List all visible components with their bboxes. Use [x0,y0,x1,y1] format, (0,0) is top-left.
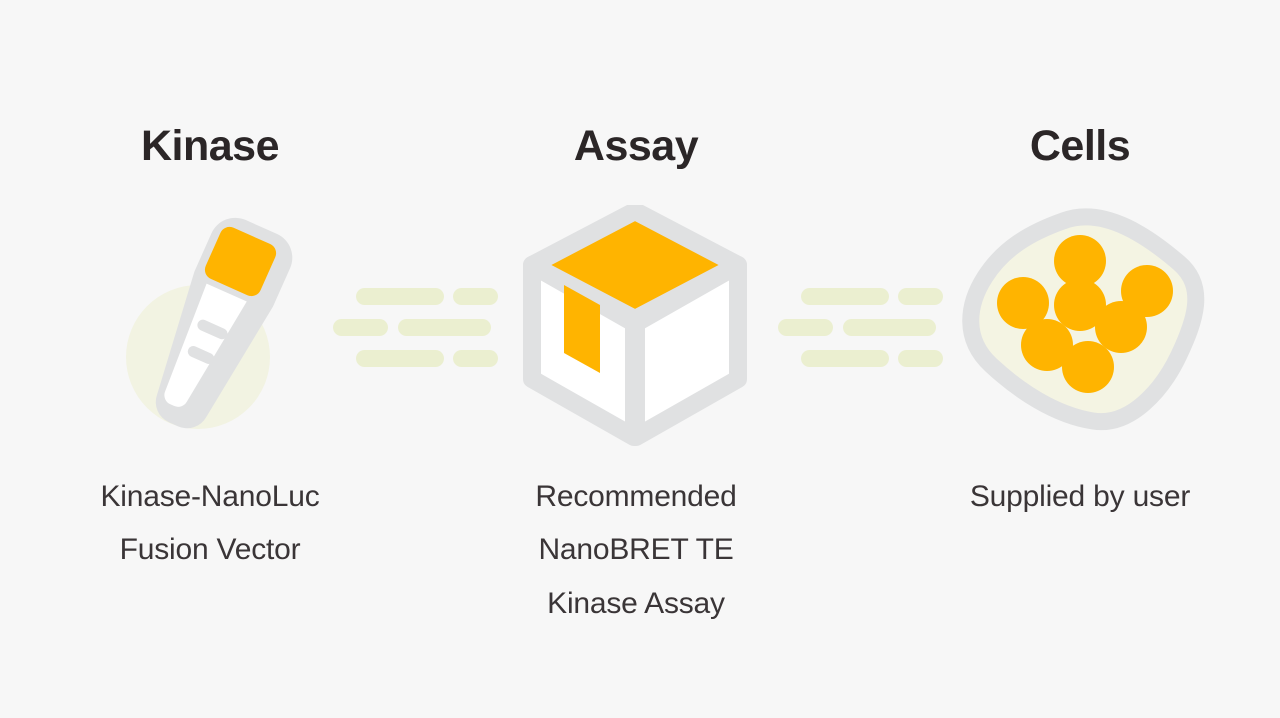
assay-kit-box-icon [466,205,806,455]
page-title-kinase: Kinase [40,124,380,169]
page-title-cells: Cells [910,124,1250,169]
connector-dash [801,288,889,305]
cell-dot [1062,341,1114,393]
workflow-step-assay: Assay Recommended NanoBRET TE Kinase Ass… [466,0,806,718]
connector-dash [778,319,833,336]
connector-dash [356,288,444,305]
connector-dash [801,350,889,367]
cell-dish-glyph [955,205,1205,435]
caption-cells: Supplied by user [910,470,1250,523]
caption-assay: Recommended NanoBRET TE Kinase Assay [466,470,806,630]
workflow-step-kinase: Kinase Kinase-NanoLuc Fusion Vector [40,0,380,718]
workflow-step-cells: Cells Supplied by user [910,0,1250,718]
microcentrifuge-tube-glyph [110,205,310,455]
microcentrifuge-tube-icon [40,205,380,455]
cell-dot [1095,301,1147,353]
connector-dash [333,319,388,336]
cell-culture-dish-icon [910,205,1250,455]
assay-box-glyph [516,205,756,450]
page-title-assay: Assay [466,124,806,169]
caption-kinase: Kinase-NanoLuc Fusion Vector [40,470,380,577]
connector-dash [356,350,444,367]
workflow-diagram: Kinase Kinase-NanoLuc Fusion Vector [0,0,1280,718]
